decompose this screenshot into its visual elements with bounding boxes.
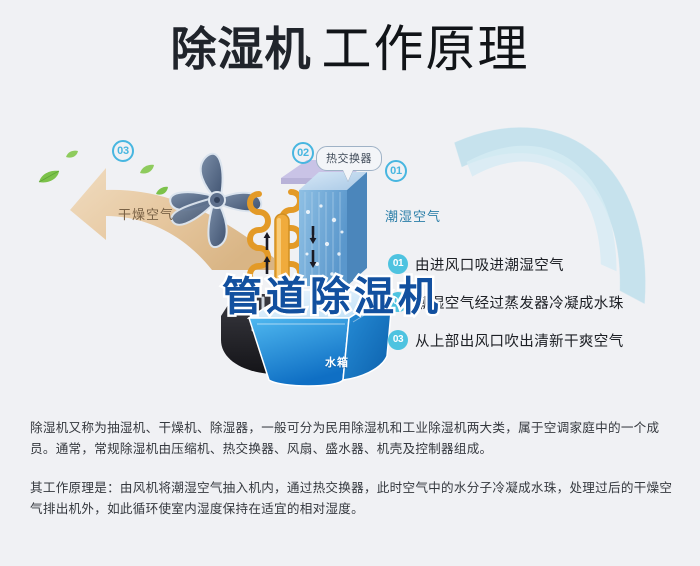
description-paragraph-1: 除湿机又称为抽湿机、干燥机、除湿器，一般可分为民用除湿机和工业除湿机两大类，属于… xyxy=(30,418,675,460)
page-title: 除湿机工作原理 xyxy=(0,24,700,74)
dry-air-label: 干燥空气 xyxy=(118,204,174,223)
diagram-badge-03: 03 xyxy=(112,140,134,162)
page-title-secondary: 工作原理 xyxy=(322,21,530,77)
page-title-primary: 除湿机 xyxy=(171,23,312,75)
step-text-03: 从上部出风口吹出清新干爽空气 xyxy=(415,330,624,351)
heat-exchanger-callout: 热交换器 xyxy=(316,146,382,171)
diagram-badge-02: 02 xyxy=(292,142,314,164)
page-root: 除湿机工作原理 xyxy=(0,0,700,566)
leaf-icon xyxy=(38,170,60,184)
watermark-text: 管道除湿机 xyxy=(222,264,442,322)
step-badge-03: 03 xyxy=(388,330,408,350)
leaf-icon xyxy=(139,164,155,175)
step-text-02: 潮湿空气经过蒸发器冷凝成水珠 xyxy=(415,292,624,313)
description-paragraph-2: 其工作原理是：由风机将潮湿空气抽入机内，通过热交换器，此时空气中的水分子冷凝成水… xyxy=(30,478,675,520)
water-tank-label: 水箱 xyxy=(325,354,349,370)
list-item: 03 从上部出风口吹出清新干爽空气 xyxy=(388,321,688,359)
humid-air-label: 潮湿空气 xyxy=(385,206,441,225)
leaf-icon xyxy=(66,150,78,159)
diagram-badge-01: 01 xyxy=(385,160,407,182)
